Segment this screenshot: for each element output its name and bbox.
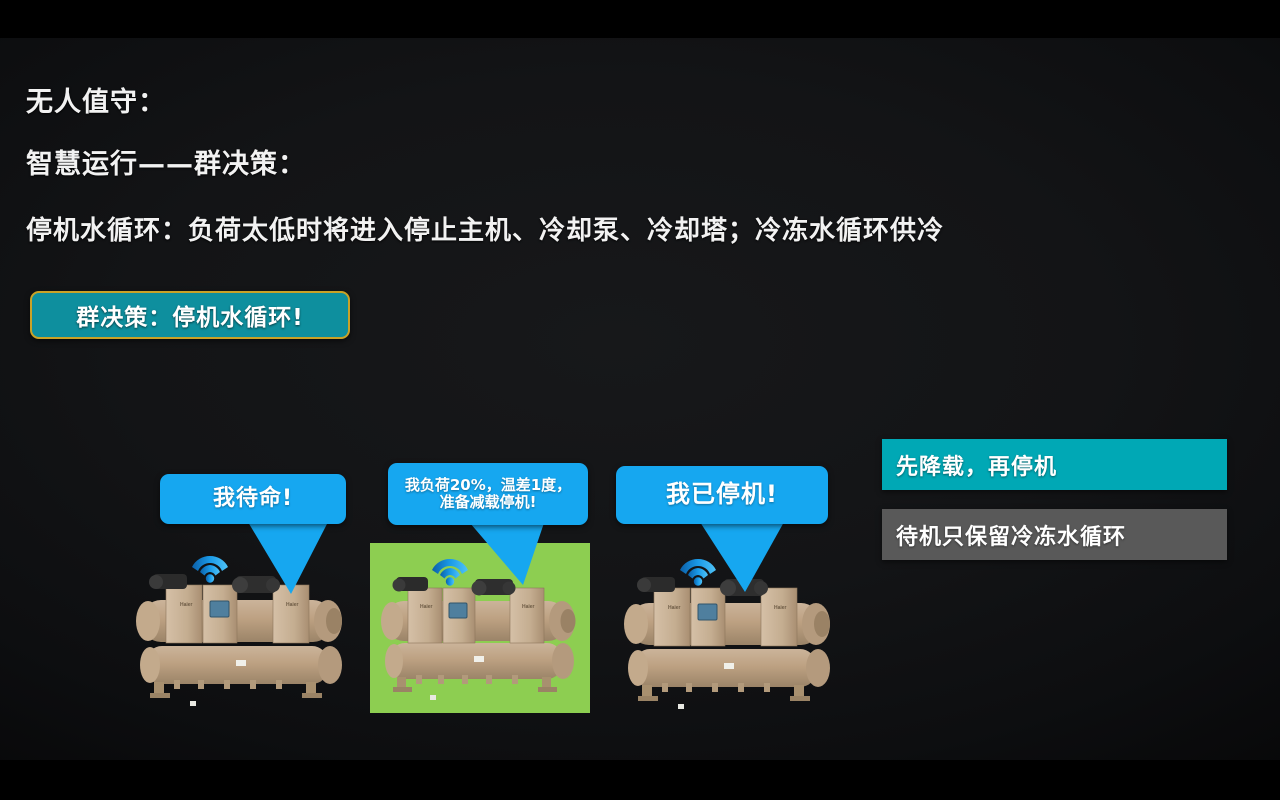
svg-text:Haier: Haier [668, 605, 681, 611]
slide-stage: 无人值守： 智慧运行——群决策： 停机水循环：负荷太低时将进入停止主机、冷却泵、… [0, 38, 1280, 760]
speech-bubble-chiller-2[interactable]: 我负荷20%，温差1度， 准备减载停机! [388, 463, 588, 525]
svg-text:Haier: Haier [774, 605, 787, 611]
speech-bubble-chiller-1-text: 我待命! [213, 486, 293, 512]
speech-bubble-chiller-2-text: 我负荷20%，温差1度， 准备减载停机! [405, 477, 571, 512]
svg-text:Haier: Haier [420, 604, 433, 610]
status-badge-unload-then-stop-label: 先降载，再停机 [896, 449, 1057, 481]
speech-bubble-chiller-2-line2: 准备减载停机! [440, 493, 537, 511]
status-badge-standby-chilled-water-label: 待机只保留冷冻水循环 [896, 519, 1126, 551]
status-badge-unload-then-stop: 先降载，再停机 [882, 439, 1227, 490]
wifi-icon-1 [190, 550, 230, 588]
group-decision-badge-label: 群决策：停机水循环! [76, 298, 304, 332]
svg-text:Haier: Haier [286, 602, 299, 608]
speech-bubble-chiller-3-text: 我已停机! [666, 481, 778, 509]
speech-bubble-tail-1 [248, 522, 328, 594]
speech-bubble-tail-2 [470, 523, 544, 585]
description-water-cycle: 停机水循环：负荷太低时将进入停止主机、冷却泵、冷却塔；冷冻水循环供冷 [26, 210, 944, 247]
letterbox-bar-top [0, 0, 1280, 38]
speech-bubble-chiller-2-line1: 我负荷20%，温差1度， [405, 476, 571, 494]
speech-bubble-chiller-1[interactable]: 我待命! [160, 474, 346, 524]
wifi-icon-2 [430, 553, 470, 591]
page-title: 无人值守： [26, 80, 166, 119]
speech-bubble-chiller-3[interactable]: 我已停机! [616, 466, 828, 524]
subtitle-smart-operation: 智慧运行——群决策： [26, 142, 306, 181]
svg-text:Haier: Haier [180, 602, 193, 608]
group-decision-badge[interactable]: 群决策：停机水循环! [30, 291, 350, 339]
svg-text:Haier: Haier [522, 604, 535, 610]
slide-canvas: 无人值守： 智慧运行——群决策： 停机水循环：负荷太低时将进入停止主机、冷却泵、… [0, 0, 1280, 800]
speech-bubble-tail-3 [700, 522, 784, 592]
status-badge-standby-chilled-water: 待机只保留冷冻水循环 [882, 509, 1227, 560]
letterbox-bar-bottom [0, 760, 1280, 800]
